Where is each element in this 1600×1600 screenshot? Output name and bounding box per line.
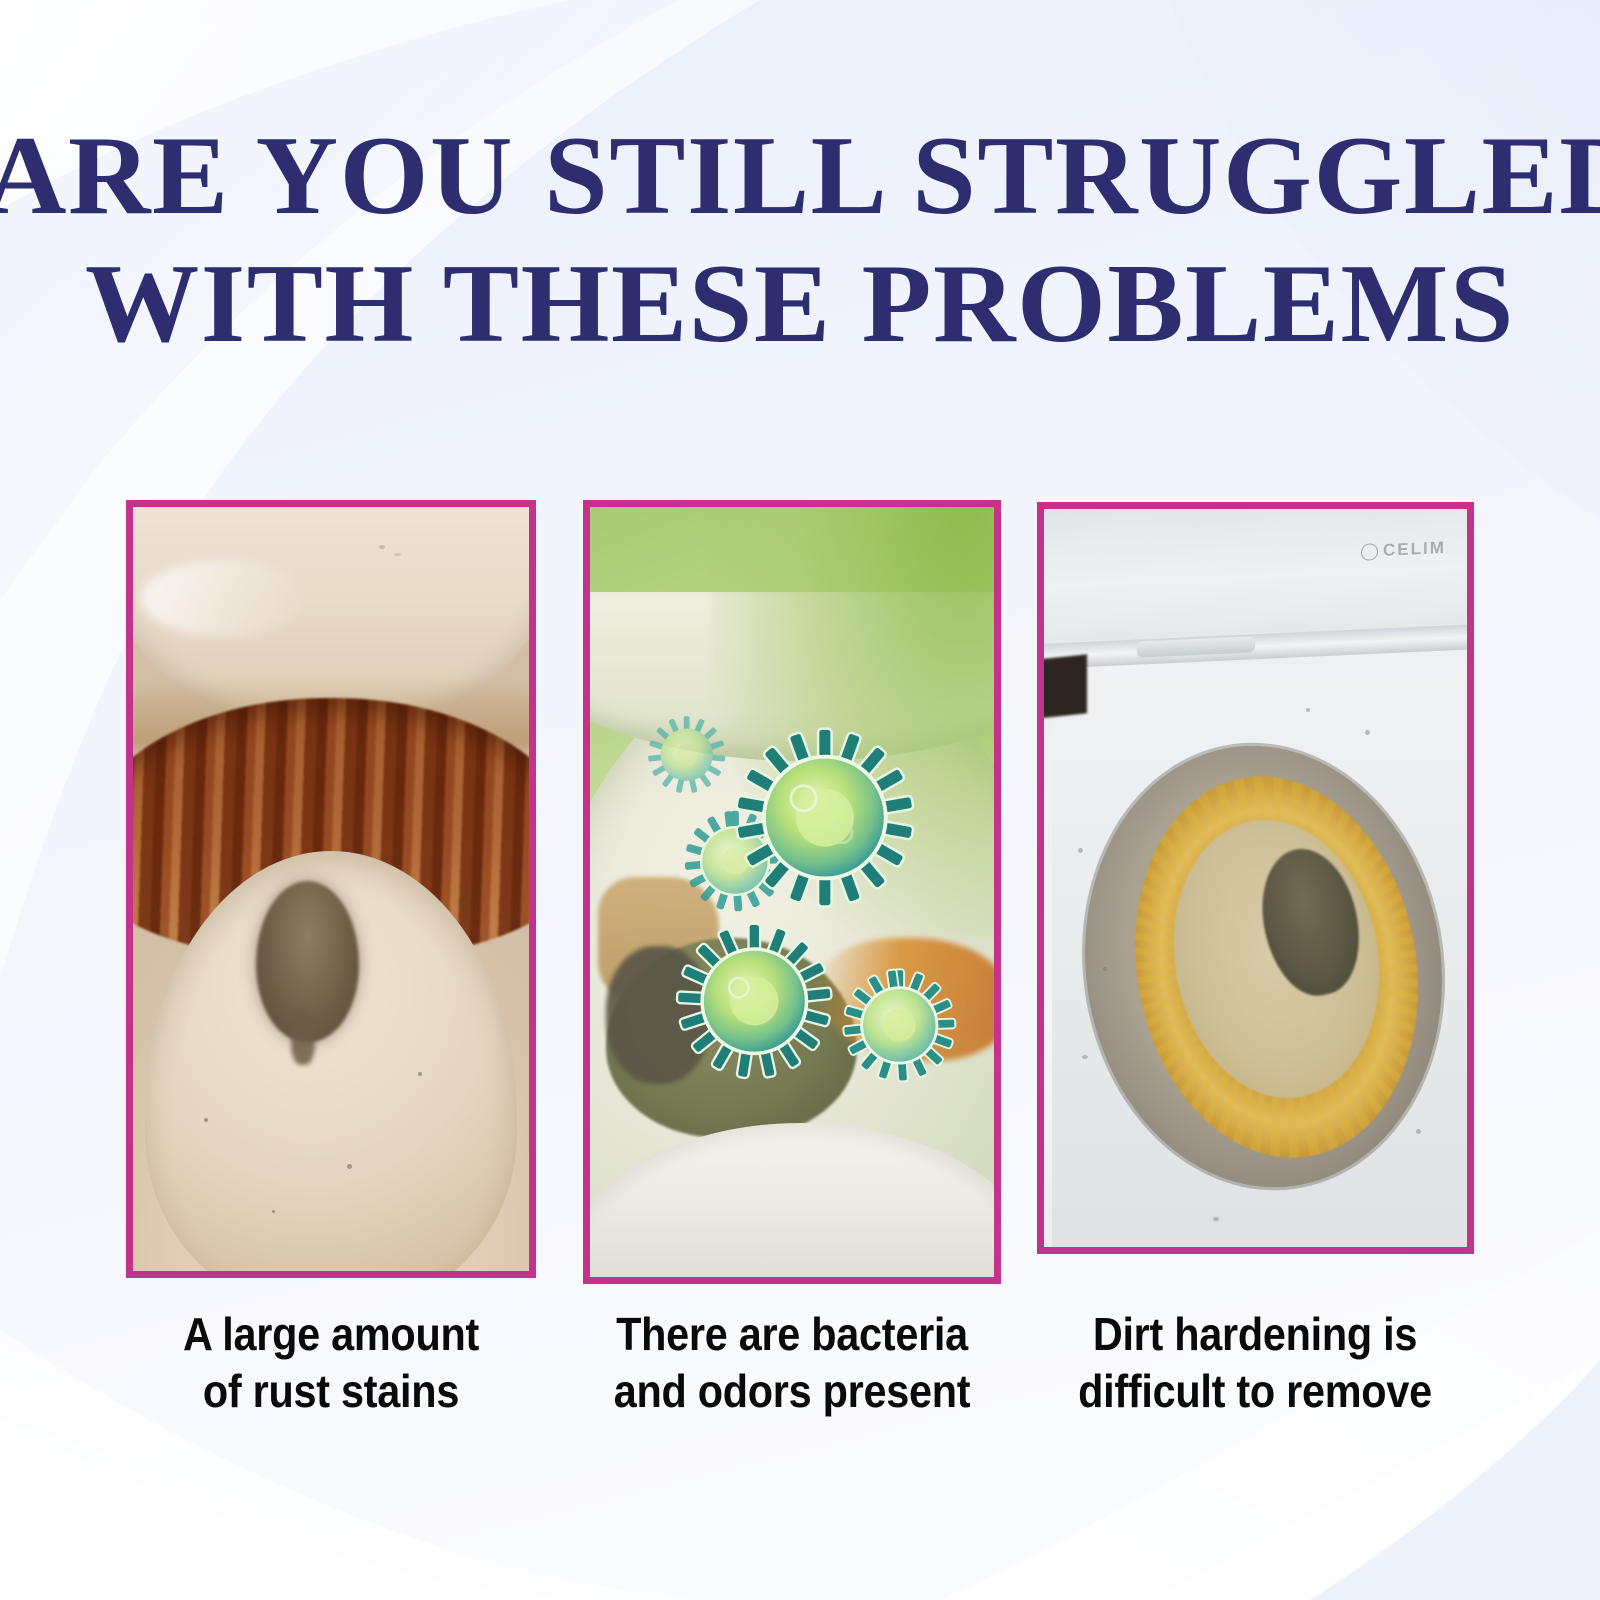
bacteria-virus-cluster	[590, 507, 994, 1277]
headline-line-2: WITH THESE PROBLEMS	[0, 240, 1600, 368]
problem-panel-hardened-dirt[interactable]: CELIM	[1037, 502, 1474, 1254]
headline-line-1: ARE YOU STILL STRUGGLED	[0, 112, 1600, 240]
page-title: ARE YOU STILL STRUGGLED WITH THESE PROBL…	[0, 112, 1600, 368]
problem-panel-rust-stains[interactable]	[126, 500, 536, 1278]
problem-panel-bacteria-odor[interactable]	[583, 500, 1001, 1284]
seat-brand-logo: CELIM	[1361, 538, 1446, 562]
caption-line-2: difficult to remove	[1035, 1363, 1476, 1420]
brand-logo-text: CELIM	[1383, 538, 1446, 561]
caption-bacteria-odor: There are bacteria and odors present	[576, 1306, 1008, 1420]
caption-line-1: Dirt hardening is	[1035, 1306, 1476, 1363]
caption-line-2: and odors present	[576, 1363, 1008, 1420]
caption-rust-stains: A large amount of rust stains	[120, 1306, 543, 1420]
caption-line-1: There are bacteria	[576, 1306, 1008, 1363]
toilet-bowl-hardened-dirt-photo: CELIM	[1044, 509, 1467, 1247]
toilet-bowl-rust-stains-photo	[133, 507, 529, 1271]
toilet-bowl-bacteria-odor-photo	[590, 507, 994, 1277]
caption-hardened-dirt: Dirt hardening is difficult to remove	[1035, 1306, 1476, 1420]
caption-line-1: A large amount	[120, 1306, 543, 1363]
brand-mark-icon	[1361, 543, 1378, 561]
caption-line-2: of rust stains	[120, 1363, 543, 1420]
